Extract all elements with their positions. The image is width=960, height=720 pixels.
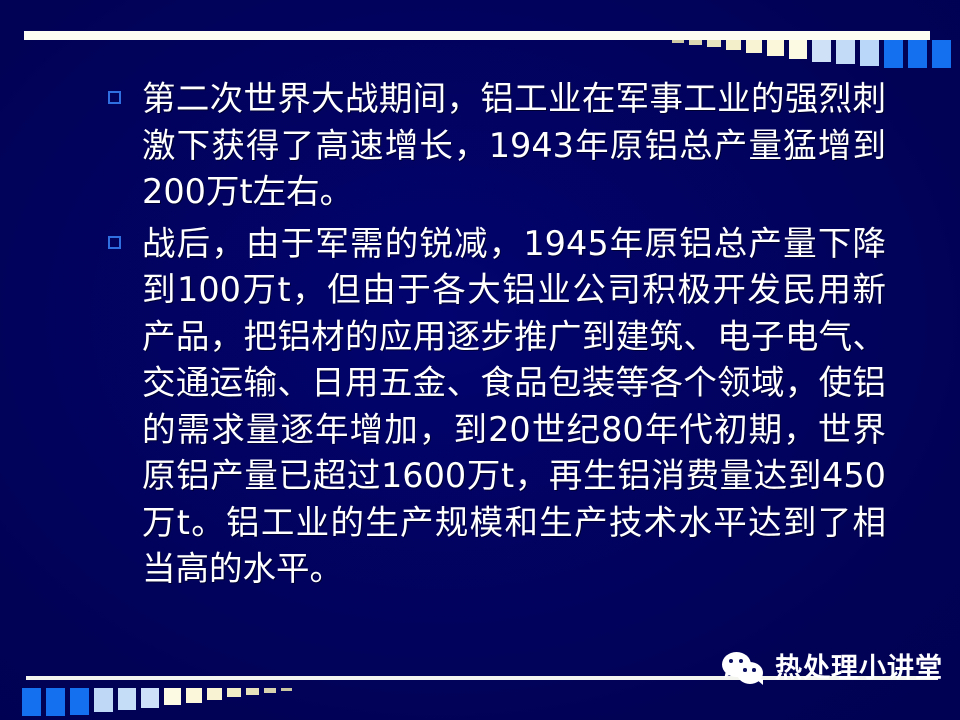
bottom-left-bar-decoration [22, 688, 292, 716]
decorative-bar [836, 40, 855, 64]
decorative-bar [932, 40, 951, 68]
wechat-eye [729, 659, 733, 663]
decorative-bar [264, 688, 276, 693]
decorative-bar [227, 688, 241, 697]
slide-body-content: 第二次世界大战期间，铝工业在军事工业的强烈刺激下获得了高速增长，1943年原铝总… [96, 76, 886, 593]
paragraph-text: 第二次世界大战期间，铝工业在军事工业的强烈刺激下获得了高速增长，1943年原铝总… [96, 76, 886, 216]
decorative-bar [164, 688, 181, 705]
decorative-bar [186, 688, 202, 703]
decorative-bar [812, 40, 831, 62]
bullet-paragraph: 战后，由于军需的锐减，1945年原铝总产量下降到100万t，但由于各大铝业公司积… [96, 221, 886, 593]
decorative-bar [689, 40, 702, 45]
decorative-bar [70, 688, 89, 715]
decorative-bar [281, 688, 292, 691]
hollow-square-bullet-icon [108, 236, 121, 249]
top-divider-rule [24, 31, 930, 40]
hollow-square-bullet-icon [108, 91, 121, 104]
decorative-bar [789, 40, 807, 59]
decorative-bar [707, 40, 721, 47]
decorative-bar [207, 688, 222, 700]
wechat-icon [722, 652, 768, 686]
decorative-bar [22, 688, 41, 716]
decorative-bar [118, 688, 136, 710]
top-right-bar-decoration [672, 40, 951, 68]
decorative-bar [908, 40, 927, 68]
wechat-tail-small [756, 679, 763, 685]
decorative-bar [246, 688, 259, 695]
decorative-bar [46, 688, 65, 716]
wechat-eye [739, 659, 743, 663]
slide-canvas: 第二次世界大战期间，铝工业在军事工业的强烈刺激下获得了高速增长，1943年原铝总… [0, 0, 960, 720]
bullet-paragraph: 第二次世界大战期间，铝工业在军事工业的强烈刺激下获得了高速增长，1943年原铝总… [96, 76, 886, 216]
decorative-bar [884, 40, 903, 68]
wechat-eye [743, 668, 747, 672]
watermark-label: 热处理小讲堂 [775, 654, 943, 684]
decorative-bar [860, 40, 879, 66]
wechat-tail-large [724, 671, 732, 679]
watermark: 热处理小讲堂 [722, 652, 943, 686]
decorative-bar [141, 688, 159, 708]
decorative-bar [746, 40, 762, 53]
decorative-bar [672, 40, 684, 43]
decorative-bar [767, 40, 784, 56]
decorative-bar [726, 40, 741, 50]
paragraph-text: 战后，由于军需的锐减，1945年原铝总产量下降到100万t，但由于各大铝业公司积… [96, 221, 886, 593]
wechat-eye [752, 668, 756, 672]
decorative-bar [94, 688, 113, 712]
